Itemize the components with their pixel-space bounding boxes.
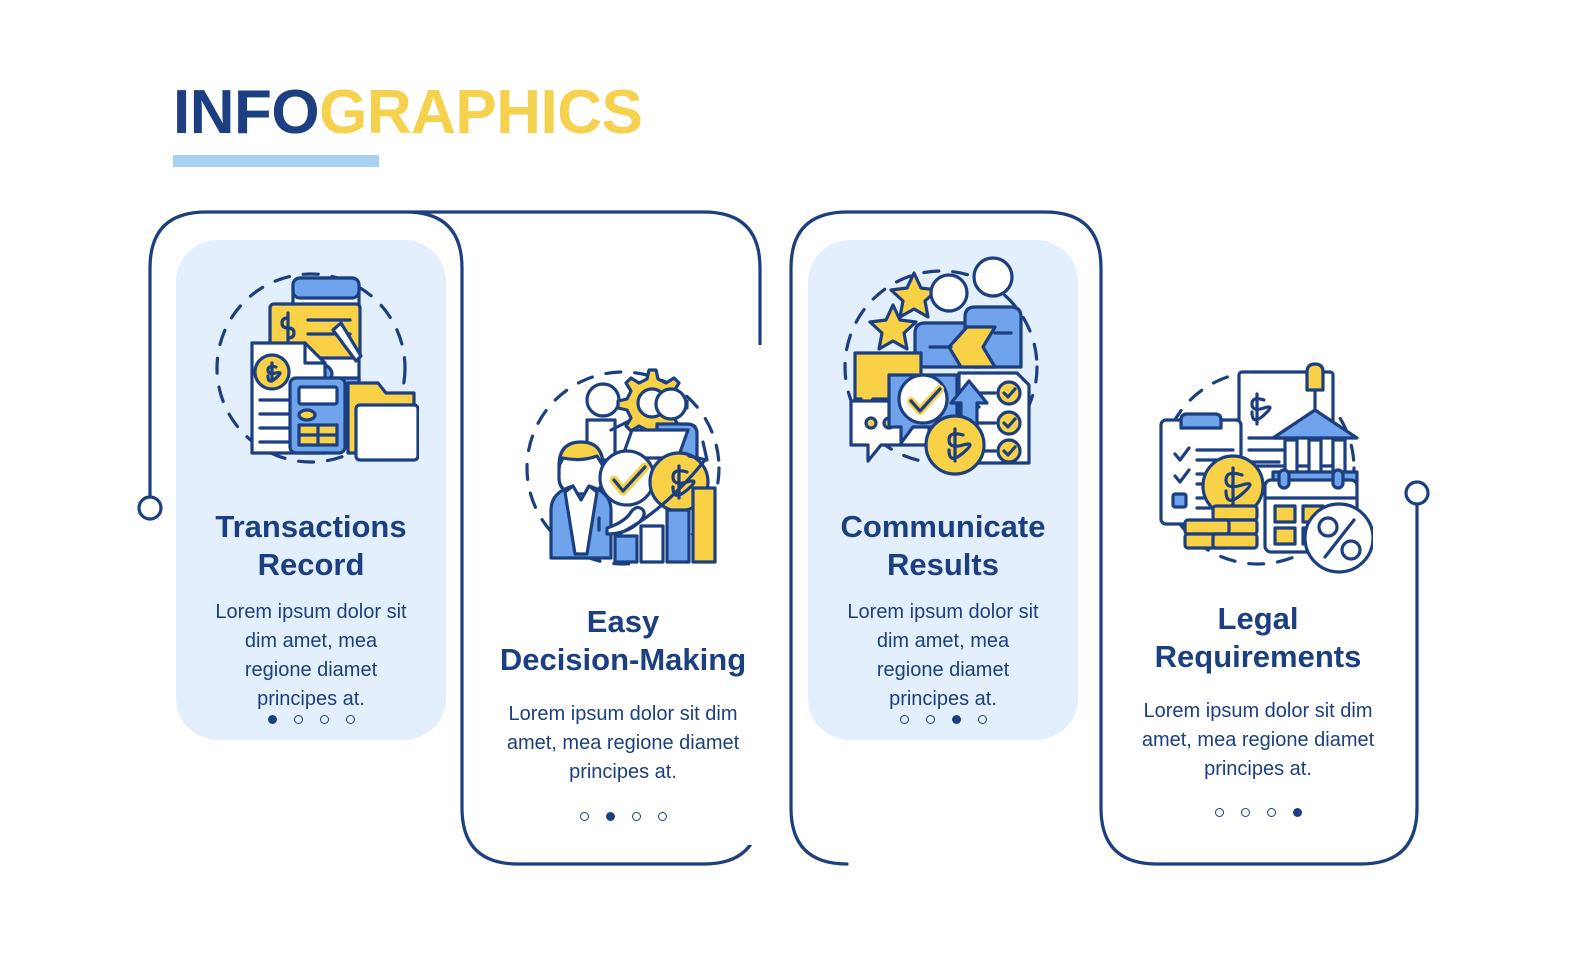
step-dot-1[interactable]	[900, 715, 909, 724]
start-node-circle	[139, 497, 161, 519]
infographic-canvas: INFOGRAPHICS	[0, 0, 1573, 980]
title-text: INFOGRAPHICS	[173, 78, 873, 148]
step-dot-3[interactable]	[320, 715, 329, 724]
card-title: Transactions Record	[176, 508, 446, 584]
step-dot-1[interactable]	[268, 715, 277, 724]
card-communicate-results[interactable]: Communicate Results Lorem ipsum dolor si…	[808, 240, 1078, 740]
card-title: Legal Requirements	[1113, 600, 1403, 676]
title-underline-bar	[173, 155, 379, 167]
step-dot-2[interactable]	[926, 715, 935, 724]
card-title: Easy Decision-Making	[478, 603, 768, 679]
communicate-results-icon	[808, 250, 1078, 485]
step-dot-3[interactable]	[952, 715, 961, 724]
step-dot-1[interactable]	[1215, 808, 1224, 817]
card-step-dots[interactable]	[478, 812, 768, 821]
card-step-dots[interactable]	[1113, 808, 1403, 817]
step-dot-4[interactable]	[346, 715, 355, 724]
step-dot-2[interactable]	[294, 715, 303, 724]
step-dot-4[interactable]	[1293, 808, 1302, 817]
card-legal-requirements[interactable]: Legal Requirements Lorem ipsum dolor sit…	[1113, 345, 1403, 845]
step-dot-4[interactable]	[658, 812, 667, 821]
card-body-text: Lorem ipsum dolor sit dim amet, mea regi…	[176, 598, 446, 714]
card-title: Communicate Results	[808, 508, 1078, 584]
step-dot-1[interactable]	[580, 812, 589, 821]
step-dot-3[interactable]	[1267, 808, 1276, 817]
card-body-text: Lorem ipsum dolor sit dim amet, mea regi…	[808, 598, 1078, 714]
title-part-graphics: GRAPHICS	[319, 78, 642, 147]
step-dot-2[interactable]	[1241, 808, 1250, 817]
card-transactions-record[interactable]: Transactions Record Lorem ipsum dolor si…	[176, 240, 446, 740]
step-dot-4[interactable]	[978, 715, 987, 724]
legal-requirements-icon	[1113, 355, 1403, 585]
title-part-info: INFO	[173, 78, 319, 147]
page-title: INFOGRAPHICS	[173, 78, 873, 178]
step-dot-3[interactable]	[632, 812, 641, 821]
end-node-circle	[1406, 482, 1428, 504]
transactions-record-icon	[176, 255, 446, 485]
step-dot-2[interactable]	[606, 812, 615, 821]
card-body-text: Lorem ipsum dolor sit dim amet, mea regi…	[1113, 697, 1403, 784]
card-easy-decision-making[interactable]: Easy Decision-Making Lorem ipsum dolor s…	[478, 345, 768, 845]
easy-decision-making-icon	[478, 355, 768, 585]
card-step-dots[interactable]	[176, 715, 446, 724]
card-body-text: Lorem ipsum dolor sit dim amet, mea regi…	[478, 700, 768, 787]
card-step-dots[interactable]	[808, 715, 1078, 724]
